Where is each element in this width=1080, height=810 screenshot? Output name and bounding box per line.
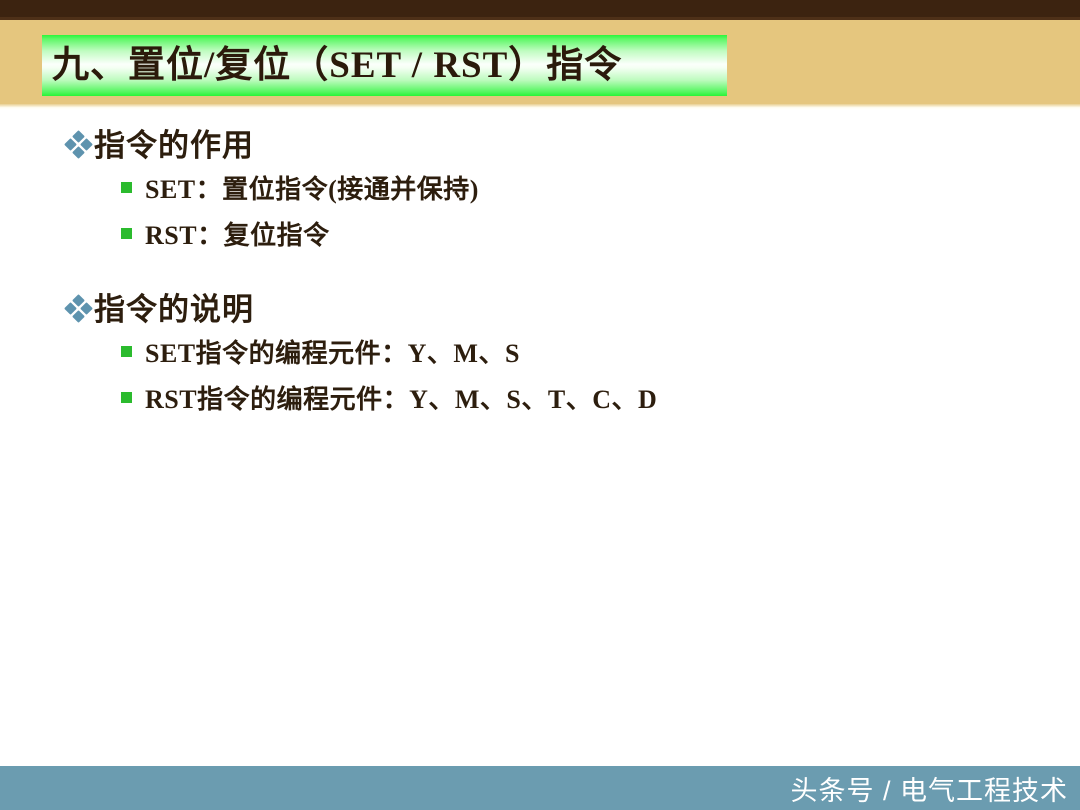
group-heading-row: 指令的说明 xyxy=(0,284,1080,329)
square-bullet-icon xyxy=(121,346,132,357)
diamond-bullet-icon xyxy=(64,293,90,323)
slide-title-box: 九、置位/复位（SET / RST）指令 xyxy=(42,35,727,96)
list-item-label: SET指令的编程元件：Y、M、S xyxy=(145,333,520,370)
header-band-fade xyxy=(0,104,1080,110)
footer-bar: 头条号 / 电气工程技术 xyxy=(0,766,1080,810)
list-item: SET指令的编程元件：Y、M、S xyxy=(0,333,1080,370)
group-heading-label: 指令的作用 xyxy=(94,120,254,165)
list-item: SET：置位指令(接通并保持) xyxy=(0,169,1080,206)
group-spacer xyxy=(0,261,1080,284)
group-heading-label: 指令的说明 xyxy=(94,284,254,329)
group-heading-row: 指令的作用 xyxy=(0,120,1080,165)
content-group: 指令的作用 SET：置位指令(接通并保持) RST：复位指令 xyxy=(0,120,1080,252)
top-decorative-bar xyxy=(0,0,1080,17)
slide-title: 九、置位/复位（SET / RST）指令 xyxy=(52,47,622,84)
list-item: RST指令的编程元件：Y、M、S、T、C、D xyxy=(0,379,1080,416)
square-bullet-icon xyxy=(121,228,132,239)
square-bullet-icon xyxy=(121,392,132,403)
list-item-label: RST指令的编程元件：Y、M、S、T、C、D xyxy=(145,379,657,416)
slide-content: 指令的作用 SET：置位指令(接通并保持) RST：复位指令 指令的说明 SET… xyxy=(0,120,1080,425)
diamond-bullet-icon xyxy=(64,129,90,159)
list-item-label: RST：复位指令 xyxy=(145,215,330,252)
square-bullet-icon xyxy=(121,182,132,193)
footer-watermark: 头条号 / 电气工程技术 xyxy=(790,769,1080,808)
content-group: 指令的说明 SET指令的编程元件：Y、M、S RST指令的编程元件：Y、M、S、… xyxy=(0,284,1080,416)
list-item-label: SET：置位指令(接通并保持) xyxy=(145,169,479,206)
list-item: RST：复位指令 xyxy=(0,215,1080,252)
